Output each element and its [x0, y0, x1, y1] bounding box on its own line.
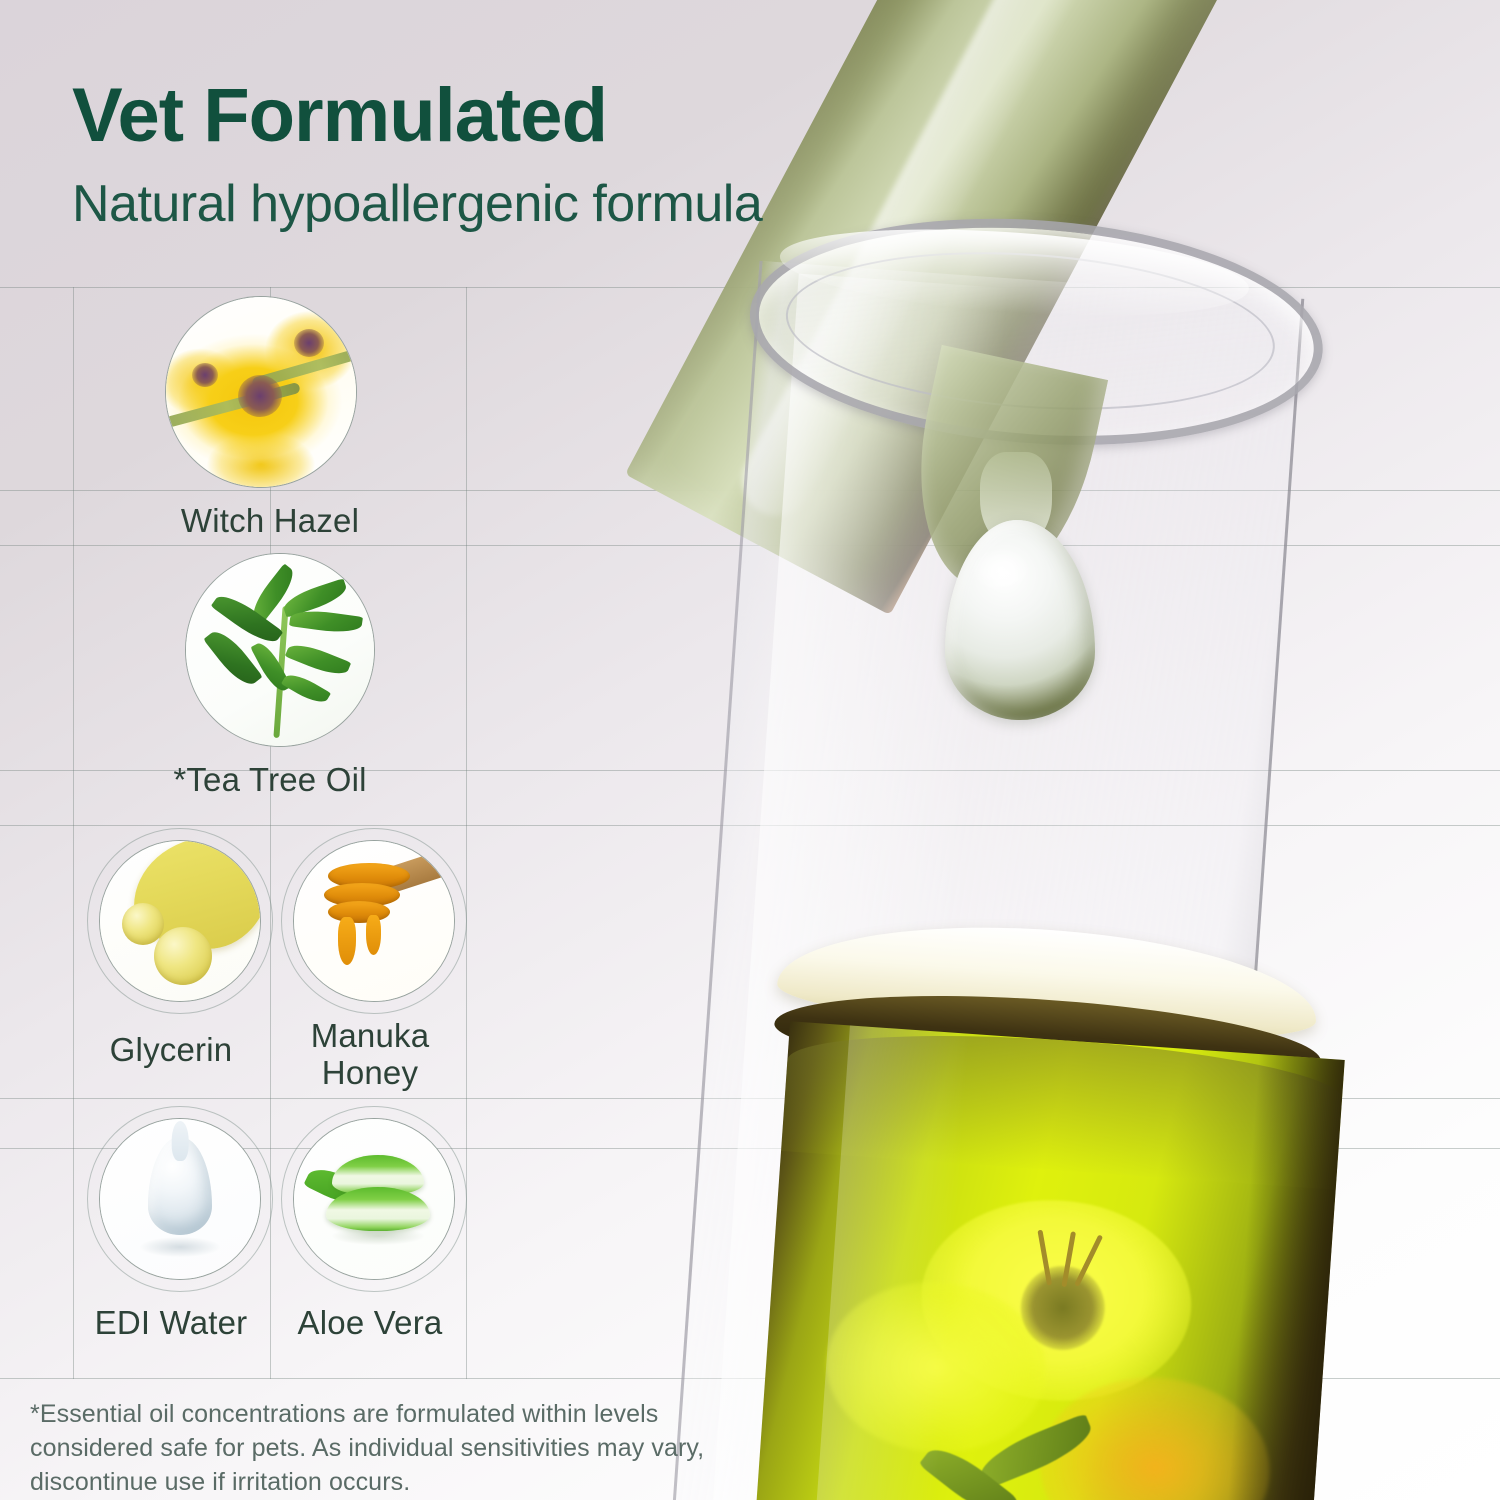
- ingredient-label: *Tea Tree Oil: [73, 762, 467, 799]
- ingredient-label: Witch Hazel: [73, 503, 467, 540]
- ingredient-label: Aloe Vera: [272, 1305, 468, 1342]
- page-title: Vet Formulated: [72, 78, 972, 154]
- green-sprig-icon: [185, 553, 375, 747]
- water-droplet-icon: [99, 1118, 261, 1280]
- ingredient-label: Glycerin: [73, 1032, 269, 1069]
- honey-dipper-icon: [293, 840, 455, 1002]
- droplet-highlight: [972, 548, 1030, 592]
- botanical-oil-column: [755, 1021, 1345, 1500]
- ingredient-label-line2: Honey: [322, 1054, 418, 1091]
- ingredient-label-line1: Manuka: [311, 1017, 430, 1054]
- yellow-flower-icon: [165, 296, 357, 488]
- product-infographic: Vet Formulated Natural hypoallergenic fo…: [0, 0, 1500, 1500]
- ingredient-label: EDI Water: [73, 1305, 269, 1342]
- grid-vline: [466, 287, 467, 1379]
- footnote-disclaimer: *Essential oil concentrations are formul…: [30, 1398, 720, 1499]
- ingredient-label: Manuka Honey: [272, 1018, 468, 1092]
- page-subtitle: Natural hypoallergenic formula: [72, 176, 972, 233]
- grid-vline: [73, 287, 74, 1379]
- header-block: Vet Formulated Natural hypoallergenic fo…: [72, 78, 972, 233]
- oil-droplets-icon: [99, 840, 261, 1002]
- aloe-leaf-icon: [293, 1118, 455, 1280]
